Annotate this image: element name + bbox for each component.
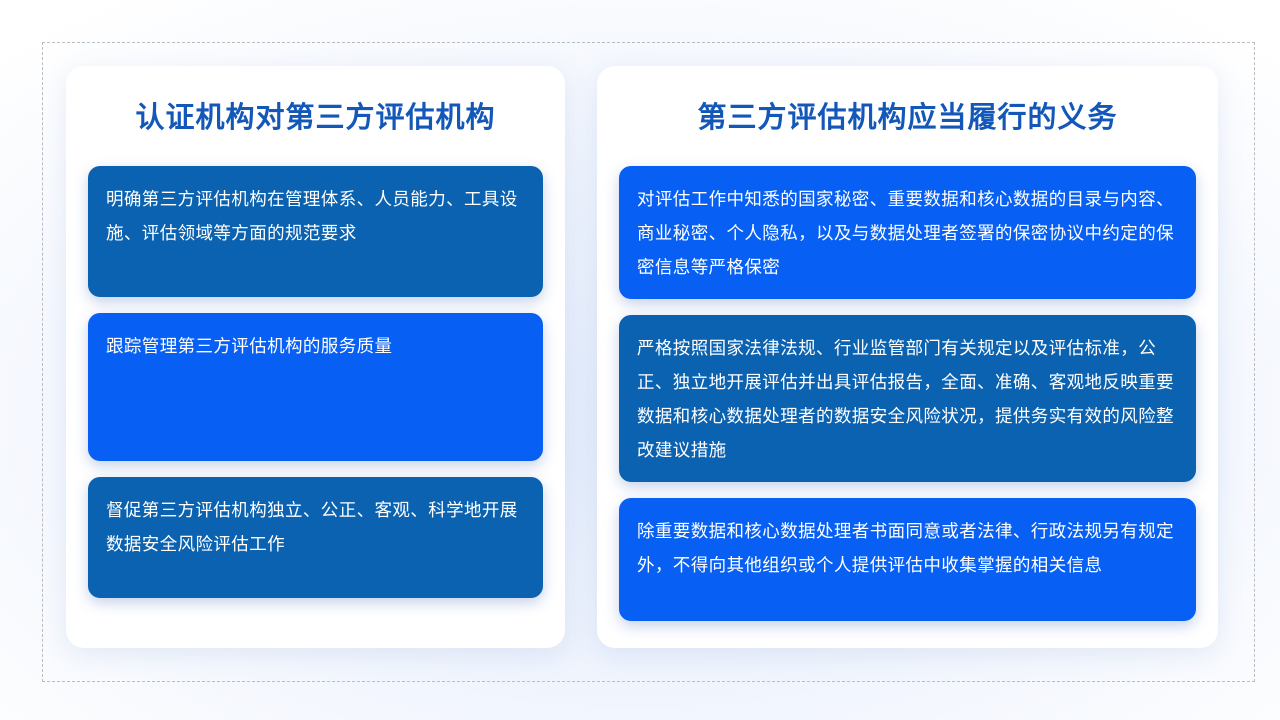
card-left-2[interactable]: 跟踪管理第三方评估机构的服务质量 — [88, 313, 543, 461]
column-title-right: 第三方评估机构应当履行的义务 — [619, 66, 1196, 166]
slide-background: 认证机构对第三方评估机构 明确第三方评估机构在管理体系、人员能力、工具设施、评估… — [0, 0, 1280, 720]
card-left-1-text: 明确第三方评估机构在管理体系、人员能力、工具设施、评估领域等方面的规范要求 — [106, 182, 525, 250]
column-title-left: 认证机构对第三方评估机构 — [88, 66, 543, 166]
card-left-1[interactable]: 明确第三方评估机构在管理体系、人员能力、工具设施、评估领域等方面的规范要求 — [88, 166, 543, 297]
card-right-3[interactable]: 除重要数据和核心数据处理者书面同意或者法律、行政法规另有规定外，不得向其他组织或… — [619, 498, 1196, 621]
card-left-2-text: 跟踪管理第三方评估机构的服务质量 — [106, 329, 525, 363]
column-panel-left: 认证机构对第三方评估机构 明确第三方评估机构在管理体系、人员能力、工具设施、评估… — [66, 66, 565, 648]
card-right-1-text: 对评估工作中知悉的国家秘密、重要数据和核心数据的目录与内容、商业秘密、个人隐私，… — [637, 182, 1178, 284]
two-column-layout: 认证机构对第三方评估机构 明确第三方评估机构在管理体系、人员能力、工具设施、评估… — [66, 66, 1218, 648]
card-right-3-text: 除重要数据和核心数据处理者书面同意或者法律、行政法规另有规定外，不得向其他组织或… — [637, 514, 1178, 582]
card-list-left: 明确第三方评估机构在管理体系、人员能力、工具设施、评估领域等方面的规范要求 跟踪… — [88, 166, 543, 630]
card-right-2-text: 严格按照国家法律法规、行业监管部门有关规定以及评估标准，公正、独立地开展评估并出… — [637, 331, 1178, 468]
card-left-3[interactable]: 督促第三方评估机构独立、公正、客观、科学地开展数据安全风险评估工作 — [88, 477, 543, 598]
card-right-1[interactable]: 对评估工作中知悉的国家秘密、重要数据和核心数据的目录与内容、商业秘密、个人隐私，… — [619, 166, 1196, 299]
column-panel-right: 第三方评估机构应当履行的义务 对评估工作中知悉的国家秘密、重要数据和核心数据的目… — [597, 66, 1218, 648]
card-left-3-text: 督促第三方评估机构独立、公正、客观、科学地开展数据安全风险评估工作 — [106, 493, 525, 561]
card-right-2[interactable]: 严格按照国家法律法规、行业监管部门有关规定以及评估标准，公正、独立地开展评估并出… — [619, 315, 1196, 482]
card-list-right: 对评估工作中知悉的国家秘密、重要数据和核心数据的目录与内容、商业秘密、个人隐私，… — [619, 166, 1196, 630]
